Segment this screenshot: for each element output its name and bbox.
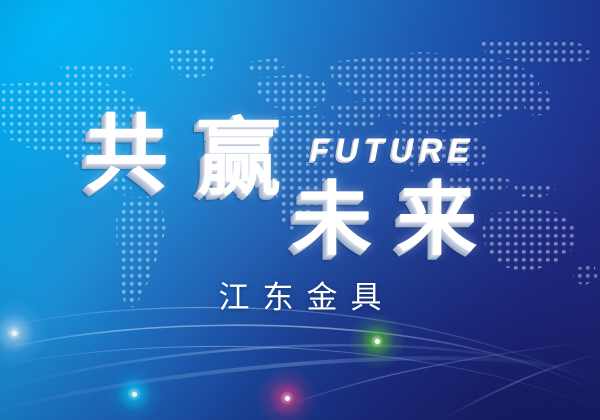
- company-name: 江东金具: [0, 272, 600, 317]
- headline-future-word: FUTURE: [310, 132, 476, 169]
- headline-text-block: 共 赢 FUTURE 未 来 江东金具: [0, 0, 600, 420]
- headline-char-gong: 共: [84, 112, 168, 196]
- banner-canvas: 共 赢 FUTURE 未 来 江东金具: [0, 0, 600, 420]
- headline-char-wei: 未: [292, 180, 372, 260]
- headline-char-lai: 来: [397, 180, 477, 260]
- headline-char-ying: 赢: [197, 116, 281, 200]
